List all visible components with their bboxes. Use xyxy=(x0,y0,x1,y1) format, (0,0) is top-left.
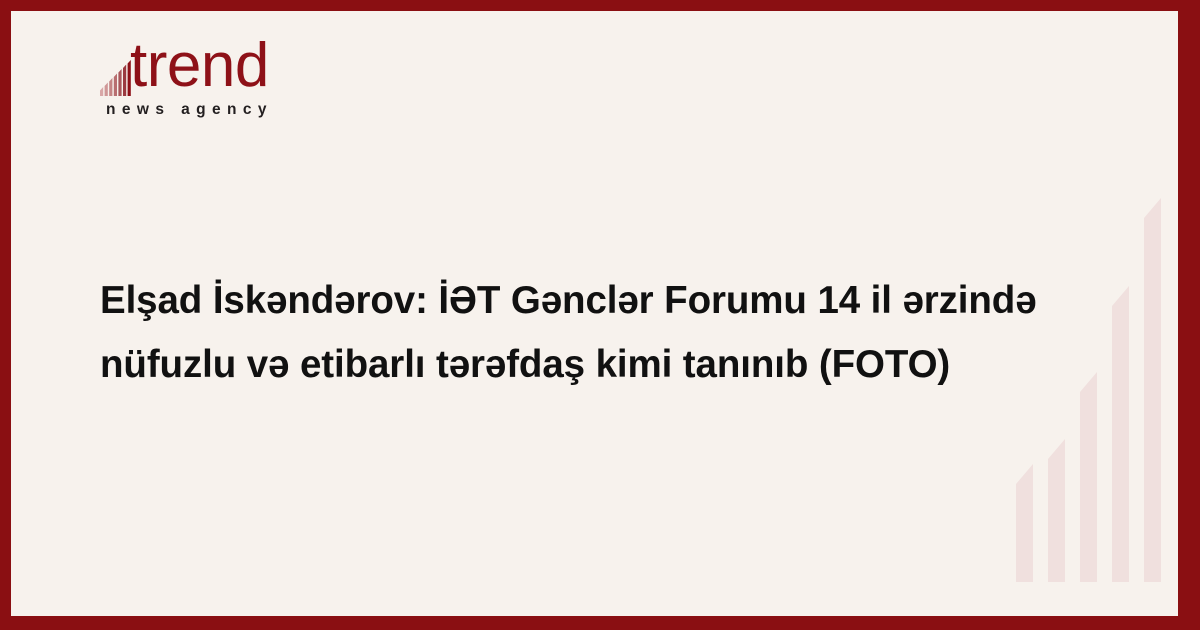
watermark-bar xyxy=(1144,218,1161,582)
watermark-bar-slope xyxy=(1016,464,1033,484)
logo-wordmark: trend xyxy=(130,35,269,97)
watermark-bar xyxy=(1112,306,1129,582)
watermark-bar-slope xyxy=(1080,372,1097,392)
social-share-card: trend news agency Elşad İskəndərov: İƏT … xyxy=(0,0,1200,630)
article-headline: Elşad İskəndərov: İƏT Gənclər Forumu 14 … xyxy=(100,269,1030,397)
watermark-bar-slope xyxy=(1144,198,1161,218)
watermark-bar-slope xyxy=(1048,439,1065,459)
headline-line-1: Elşad İskəndərov: İƏT Gənclər Forumu 14 … xyxy=(100,269,1030,333)
card-canvas: trend news agency Elşad İskəndərov: İƏT … xyxy=(11,11,1178,616)
watermark-bar xyxy=(1016,484,1033,582)
logo-tagline: news agency xyxy=(106,102,273,118)
trend-news-agency-logo[interactable]: trend news agency xyxy=(100,38,300,138)
watermark-bar xyxy=(1048,459,1065,582)
watermark-bar-slope xyxy=(1112,286,1129,306)
watermark-bar xyxy=(1080,392,1097,582)
headline-line-2: nüfuzlu və etibarlı tərəfdaş kimi tanını… xyxy=(100,333,1030,397)
